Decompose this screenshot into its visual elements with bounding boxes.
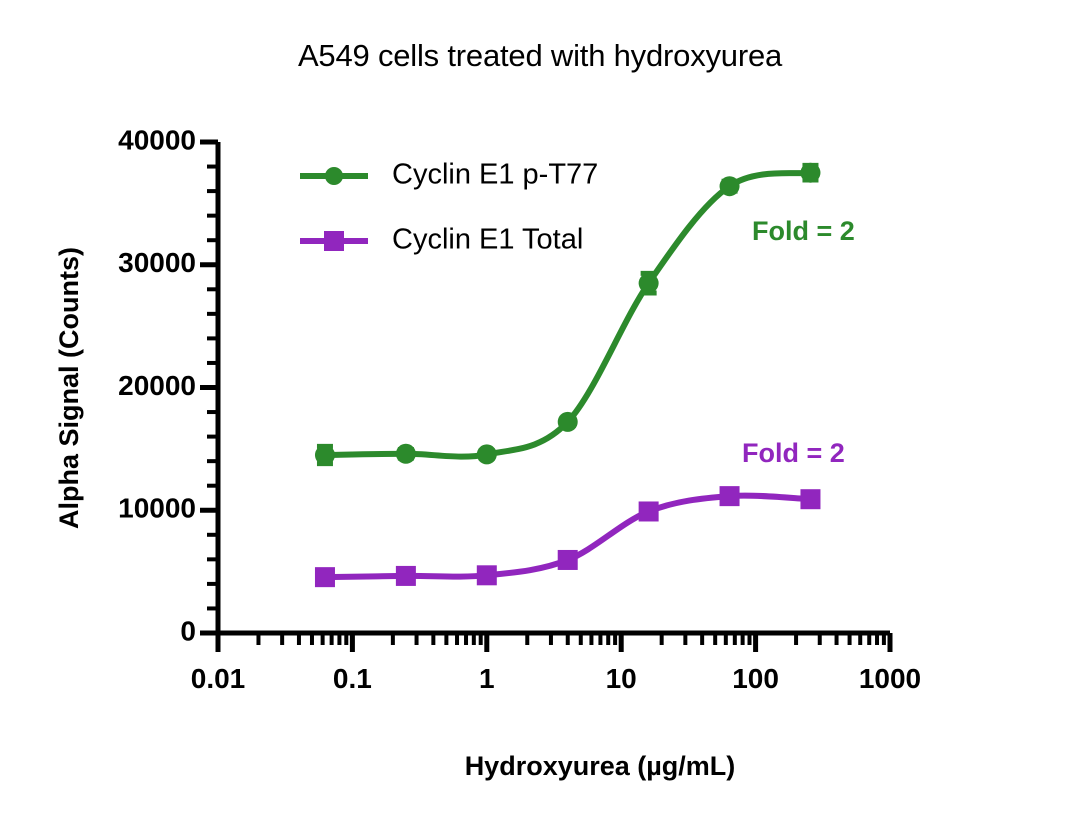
x-tick-label-1000: 1000: [859, 663, 921, 694]
legend-label-1: Cyclin E1 Total: [392, 224, 583, 256]
y-axis: 40000 30000 20000 10000 0: [118, 124, 218, 646]
data-point-marker[interactable]: [396, 566, 416, 586]
legend-label-0: Cyclin E1 p-T77: [392, 159, 598, 191]
x-tick-label-100: 100: [732, 663, 779, 694]
data-point-marker[interactable]: [558, 550, 578, 570]
fold-annotation-green: Fold = 2: [752, 216, 855, 246]
legend-marker-circle: [325, 167, 343, 185]
x-axis-major-ticks: [218, 633, 890, 652]
data-point-marker[interactable]: [315, 445, 335, 465]
data-point-marker[interactable]: [477, 444, 497, 464]
x-tick-label-1: 1: [479, 663, 495, 694]
x-axis: 0.01 0.1 1 10 100 1000: [191, 633, 921, 694]
data-point-marker[interactable]: [558, 412, 578, 432]
x-tick-label-0.1: 0.1: [333, 663, 372, 694]
dose-response-plot: 40000 30000 20000 10000 0: [0, 0, 1080, 821]
data-point-marker[interactable]: [477, 565, 497, 585]
series-0: [315, 163, 821, 465]
series-1: [315, 486, 821, 587]
data-point-marker[interactable]: [315, 567, 335, 587]
data-point-marker[interactable]: [800, 489, 820, 509]
y-tick-label-10000: 10000: [118, 493, 196, 524]
legend-entry-1[interactable]: Cyclin E1 Total: [300, 224, 583, 256]
chart-figure: A549 cells treated with hydroxyurea: [0, 0, 1080, 821]
y-tick-label-40000: 40000: [118, 124, 196, 155]
fold-annotation-purple: Fold = 2: [742, 438, 845, 468]
data-point-marker[interactable]: [720, 176, 740, 196]
x-axis-title: Hydroxyurea (µg/mL): [465, 751, 736, 781]
legend: Cyclin E1 p-T77 Cyclin E1 Total: [300, 159, 598, 256]
data-point-marker[interactable]: [720, 486, 740, 506]
x-tick-label-10: 10: [606, 663, 637, 694]
data-point-marker[interactable]: [639, 273, 659, 293]
data-point-marker[interactable]: [800, 163, 820, 183]
legend-entry-0[interactable]: Cyclin E1 p-T77: [300, 159, 598, 191]
y-tick-label-0: 0: [180, 615, 196, 646]
y-tick-label-30000: 30000: [118, 247, 196, 278]
x-tick-label-0.01: 0.01: [191, 663, 246, 694]
data-point-marker[interactable]: [639, 501, 659, 521]
data-point-marker[interactable]: [396, 444, 416, 464]
y-axis-title: Alpha Signal (Counts): [54, 247, 84, 529]
y-tick-label-20000: 20000: [118, 370, 196, 401]
legend-marker-square: [324, 231, 344, 251]
